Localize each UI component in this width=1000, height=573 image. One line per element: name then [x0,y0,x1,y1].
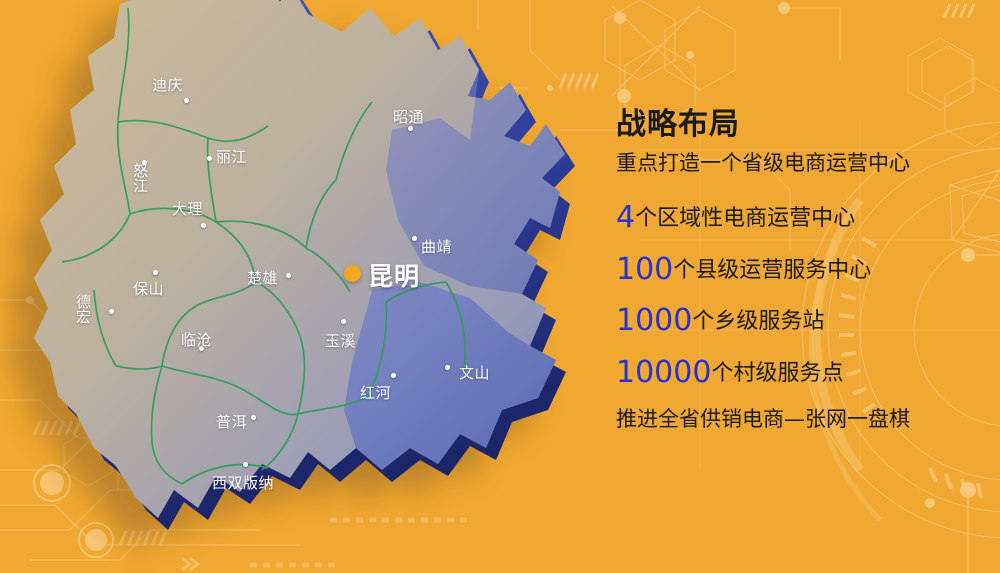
map-prefecture-label: 昭通 [393,110,424,126]
map-city-dot [243,462,248,467]
map-city-dot [251,415,256,420]
map-prefecture-label: 德宏 [76,295,91,325]
map-prefecture-label: 怒江 [133,164,148,194]
map-city-dot [207,156,212,161]
panel-item-text: 个县级运营服务中心 [673,258,871,283]
map-city-dot [445,365,450,370]
panel-subtitle: 重点打造一个省级电商运营中心 [616,151,991,175]
panel-item-number: 1000 [616,303,692,338]
map-prefecture-label: 文山 [459,366,490,382]
map-city-dot [109,309,114,314]
map-city-dot [408,126,413,131]
map-svg [0,0,620,573]
map-city-dot [412,236,417,241]
map-prefecture-label: 普洱 [216,415,247,431]
panel-footer: 推进全省供销电商—张网一盘棋 [616,407,991,431]
panel-item-text: 个区域性电商运营中心 [635,206,855,231]
panel-item: 4个区域性电商运营中心 [616,201,991,236]
map-city-dot [184,98,189,103]
map-prefecture-label: 楚雄 [247,271,278,287]
strategy-panel: 战略布局 重点打造一个省级电商运营中心 4个区域性电商运营中心100个县级运营服… [616,108,991,431]
panel-item-number: 4 [616,200,635,235]
map-prefecture-label: 临沧 [181,333,212,349]
map-capital-label: 昆明 [368,257,420,293]
panel-item-text: 个乡级服务站 [692,309,824,334]
panel-item-number: 10000 [616,355,711,390]
panel-title: 战略布局 [616,108,991,141]
map-prefecture-label: 红河 [360,386,391,402]
map-city-dot [201,223,206,228]
panel-item-number: 100 [616,252,673,287]
map-prefecture-label: 西双版纳 [212,476,274,492]
yunnan-province-map: 迪庆丽江怒江大理保山德宏楚雄昭通曲靖临沧玉溪红河文山普洱西双版纳昆明 [0,0,620,573]
map-prefecture-label: 迪庆 [152,78,183,94]
map-prefecture-label: 玉溪 [325,334,356,350]
panel-item: 1000个乡级服务站 [616,304,991,339]
poster-canvas: 迪庆丽江怒江大理保山德宏楚雄昭通曲靖临沧玉溪红河文山普洱西双版纳昆明 战略布局 … [0,0,1000,573]
map-city-dot [341,319,346,324]
map-prefecture-label: 大理 [172,202,203,218]
map-city-dot [391,373,396,378]
map-city-dot [153,270,158,275]
map-prefecture-label: 保山 [133,282,164,298]
hatch-marks-top [560,4,974,88]
panel-item-list: 4个区域性电商运营中心100个县级运营服务中心1000个乡级服务站10000个村… [616,201,991,390]
map-prefecture-label: 曲靖 [421,240,452,256]
map-capital-marker [344,265,361,282]
panel-item: 10000个村级服务点 [616,356,991,391]
map-city-dot [286,273,291,278]
map-prefecture-label: 丽江 [216,150,247,166]
panel-item-text: 个村级服务点 [711,361,843,386]
panel-item: 100个县级运营服务中心 [616,253,991,288]
